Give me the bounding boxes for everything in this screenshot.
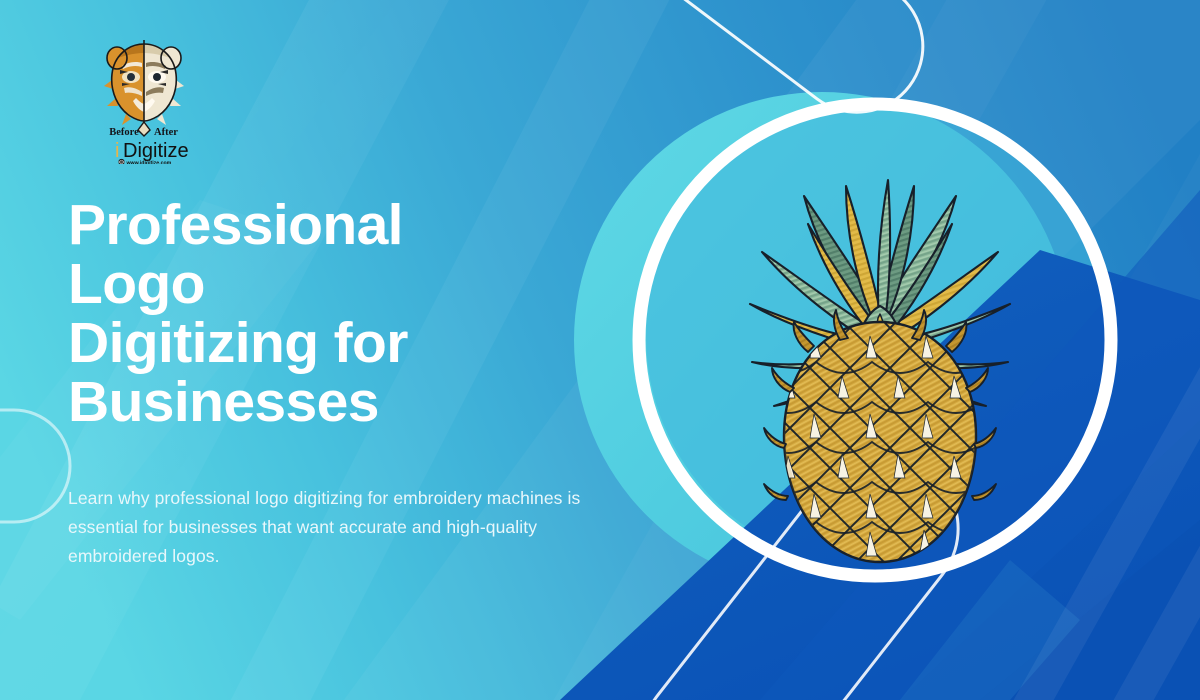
idigitize-logo-svg: Before After i Digitize www.idigitize.co… bbox=[98, 36, 190, 164]
page-title: Professional Logo Digitizing for Busines… bbox=[68, 196, 628, 432]
website-label: www.idigitize.com bbox=[126, 160, 172, 164]
pineapple-body bbox=[700, 100, 1060, 600]
before-label: Before bbox=[109, 127, 139, 138]
wordmark: Digitize bbox=[123, 140, 189, 162]
idigitize-logo[interactable]: Before After i Digitize www.idigitize.co… bbox=[98, 36, 190, 164]
divider-point bbox=[138, 122, 150, 136]
pineapple-svg bbox=[700, 100, 1060, 600]
after-label: After bbox=[154, 127, 178, 138]
hero-copy: Professional Logo Digitizing for Busines… bbox=[68, 196, 628, 571]
hero-subhead: Learn why professional logo digitizing f… bbox=[68, 432, 608, 571]
wordmark-accent: i bbox=[115, 140, 119, 162]
embroidered-pineapple bbox=[700, 100, 1060, 600]
hero-banner: Before After i Digitize www.idigitize.co… bbox=[0, 0, 1200, 700]
